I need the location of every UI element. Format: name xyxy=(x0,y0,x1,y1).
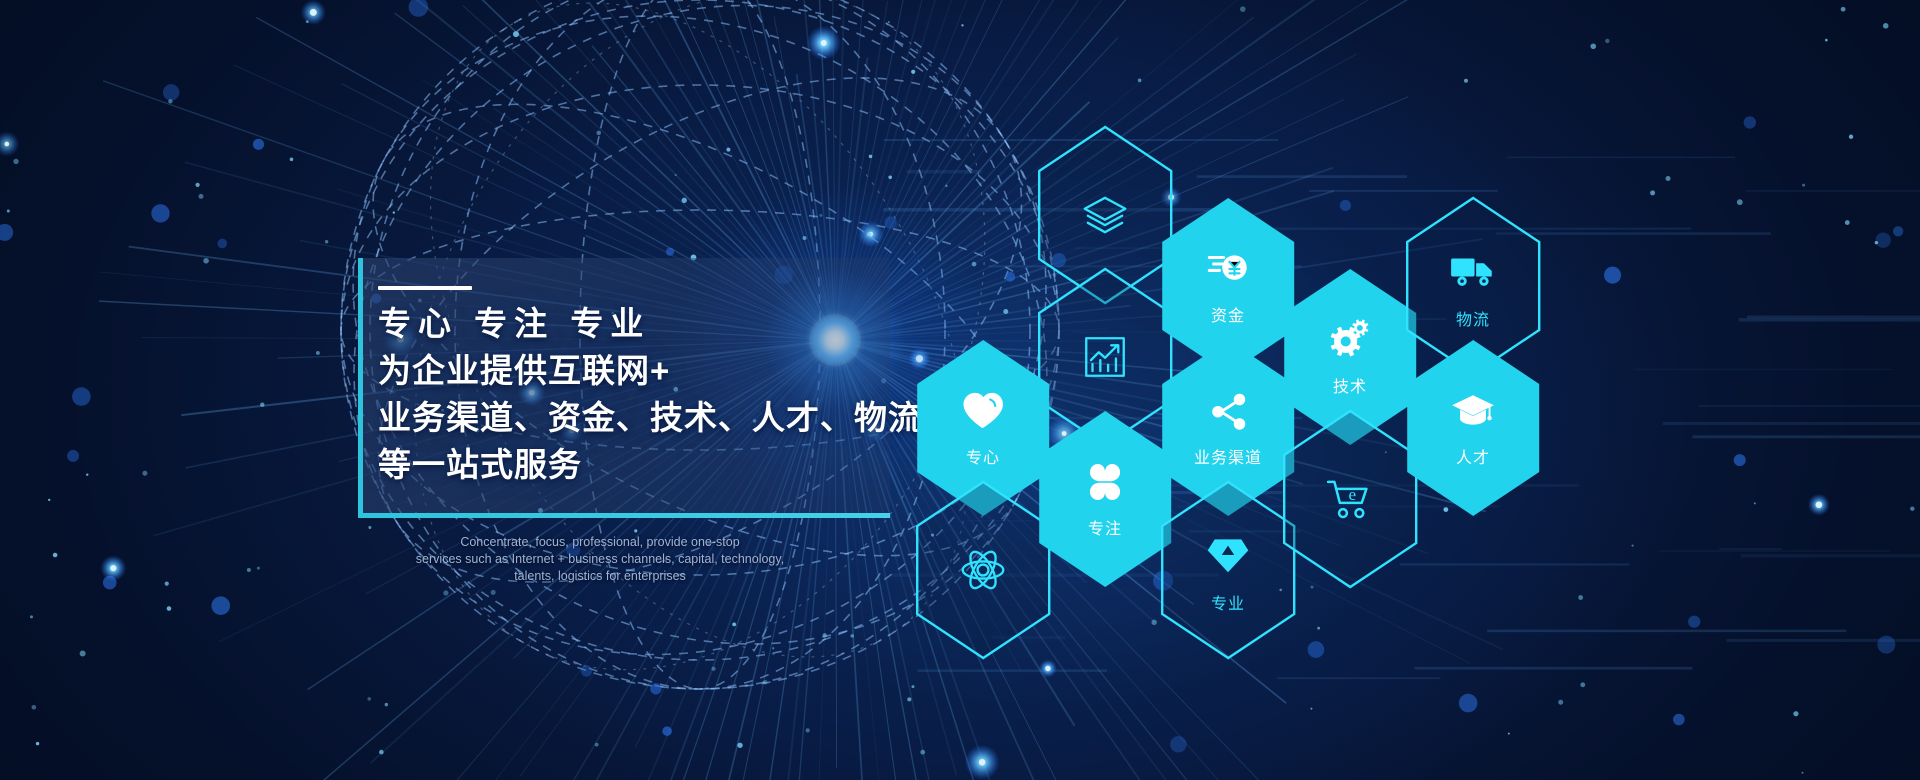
hex-tile-rencai[interactable]: 人才 xyxy=(1397,340,1549,516)
hexagon-cluster: 专心 专注 资金 业务渠道 专业 技术 e 物流 人才 xyxy=(0,0,1920,780)
banner-stage: 专心 专注 专业 为企业提供互联网+ 业务渠道、资金、技术、人才、物流 等一站式… xyxy=(0,0,1920,780)
hex-shape-rencai xyxy=(1397,340,1549,516)
